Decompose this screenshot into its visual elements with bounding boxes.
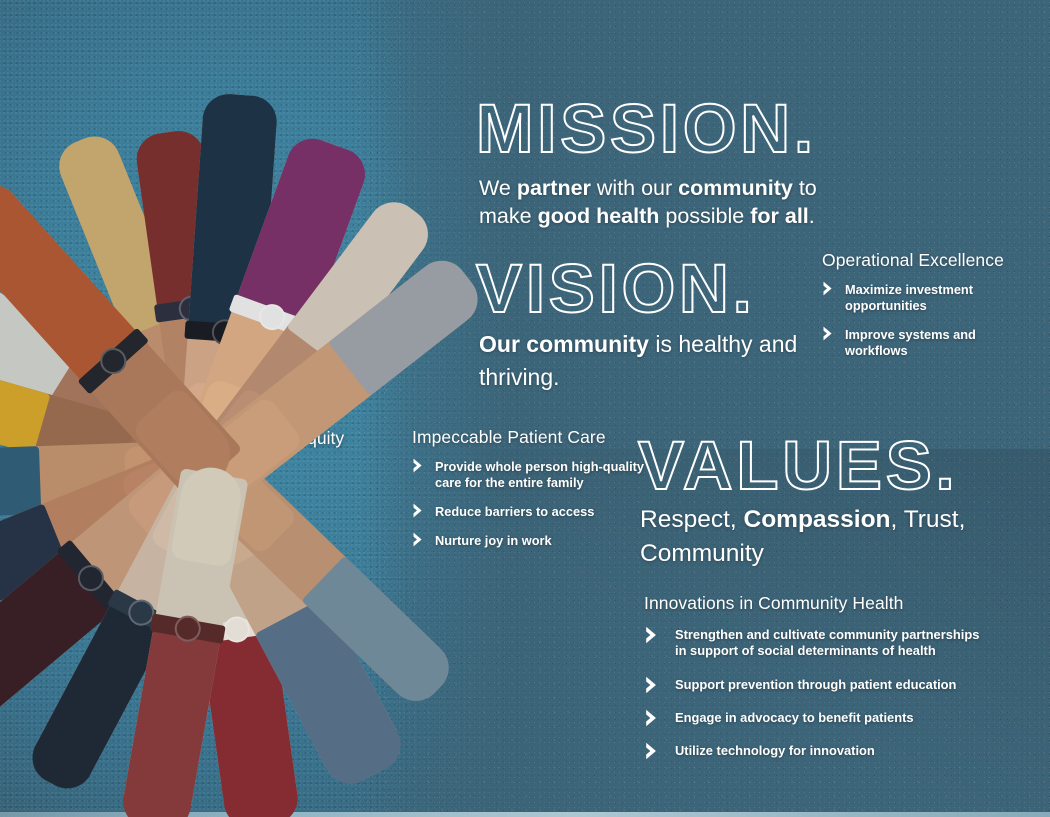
mission-l2-pre: make bbox=[479, 204, 538, 228]
mission-l1-pre: We bbox=[479, 176, 517, 200]
pillar-list-item: Improve systems and workflows bbox=[822, 327, 1017, 359]
pillar-impeccable-patient-care: Impeccable Patient Care Provide whole pe… bbox=[412, 427, 647, 549]
photo-hand bbox=[170, 463, 246, 568]
values-bold: Compassion bbox=[744, 506, 891, 533]
pillar-title-operational-excellence: Operational Excellence bbox=[822, 250, 1017, 271]
pillar-list-item: Utilize technology for innovation bbox=[644, 743, 989, 759]
chevron-right-icon bbox=[644, 676, 661, 692]
mission-l1-post: to bbox=[793, 176, 817, 200]
pillar-list-item: Maximize investment opportunities bbox=[822, 282, 1017, 314]
mission-l1-bold1: partner bbox=[517, 176, 591, 200]
pillar-innovations-in-community-health: Innovations in Community Health Strength… bbox=[644, 593, 989, 776]
vision-bold: Our community bbox=[479, 331, 649, 357]
mission-l1-bold2: community bbox=[678, 176, 793, 200]
pillar-list-item: Support prevention through patient educa… bbox=[644, 677, 989, 693]
pillar-list-item-label: Support prevention through patient educa… bbox=[675, 677, 956, 692]
pillar-list-item-label: Utilize technology for innovation bbox=[675, 743, 875, 758]
mission-l2-bold2: for all bbox=[750, 204, 809, 228]
chevron-right-icon bbox=[644, 626, 661, 642]
chevron-right-icon bbox=[644, 742, 661, 758]
pillar-list-item-label: Strengthen and cultivate community partn… bbox=[675, 627, 979, 658]
pillar-list-item: Engage in advocacy to benefit patients bbox=[644, 710, 989, 726]
values-heading: VALUES. bbox=[638, 431, 959, 500]
vision-heading: VISION. bbox=[476, 254, 756, 323]
pillar-list-item: Reduce barriers to access bbox=[412, 504, 647, 520]
chevron-right-icon bbox=[822, 326, 836, 342]
chevron-right-icon bbox=[412, 532, 426, 548]
mission-l1-mid: with our bbox=[591, 176, 678, 200]
chevron-right-icon bbox=[644, 709, 661, 725]
pillar-list-item-label: Reduce barriers to access bbox=[435, 504, 594, 519]
pillar-list-operational-excellence: Maximize investment opportunitiesImprove… bbox=[822, 282, 1017, 359]
pillar-list-item-label: Maximize investment opportunities bbox=[845, 282, 973, 313]
pillar-list-item: Provide whole person high-quality care f… bbox=[412, 459, 647, 491]
mission-statement: We partner with our community to make go… bbox=[479, 174, 879, 231]
pillar-list-item-label: Provide whole person high-quality care f… bbox=[435, 459, 644, 490]
pillar-list-innovations-in-community-health: Strengthen and cultivate community partn… bbox=[644, 627, 989, 759]
pillar-list-item: Strengthen and cultivate community partn… bbox=[644, 627, 989, 660]
chevron-right-icon bbox=[822, 281, 836, 297]
pillar-list-item-label: Improve systems and workflows bbox=[845, 327, 976, 358]
values-statement: Respect, Compassion, Trust, Community bbox=[640, 503, 1000, 571]
pillar-operational-excellence: Operational Excellence Maximize investme… bbox=[822, 250, 1017, 359]
vision-statement: Our community is healthy and thriving. bbox=[479, 328, 819, 393]
pillar-list-item-label: Engage in advocacy to benefit patients bbox=[675, 710, 914, 725]
mission-l2-bold1: good health bbox=[538, 204, 660, 228]
mission-l2-mid: possible bbox=[659, 204, 750, 228]
pillar-list-item: Nurture joy in work bbox=[412, 533, 647, 549]
chevron-right-icon bbox=[412, 503, 426, 519]
pillar-list-item-label: Nurture joy in work bbox=[435, 533, 552, 548]
mission-heading: MISSION. bbox=[476, 94, 817, 163]
pillar-title-innovations-in-community-health: Innovations in Community Health bbox=[644, 593, 989, 614]
mission-l2-post: . bbox=[809, 204, 815, 228]
pillar-title-impeccable-patient-care: Impeccable Patient Care bbox=[412, 427, 647, 448]
pillar-list-impeccable-patient-care: Provide whole person high-quality care f… bbox=[412, 459, 647, 549]
values-pre: Respect, bbox=[640, 506, 744, 533]
chevron-right-icon bbox=[412, 458, 426, 474]
poster-canvas: wallace together in health Health Equity… bbox=[0, 0, 1050, 817]
